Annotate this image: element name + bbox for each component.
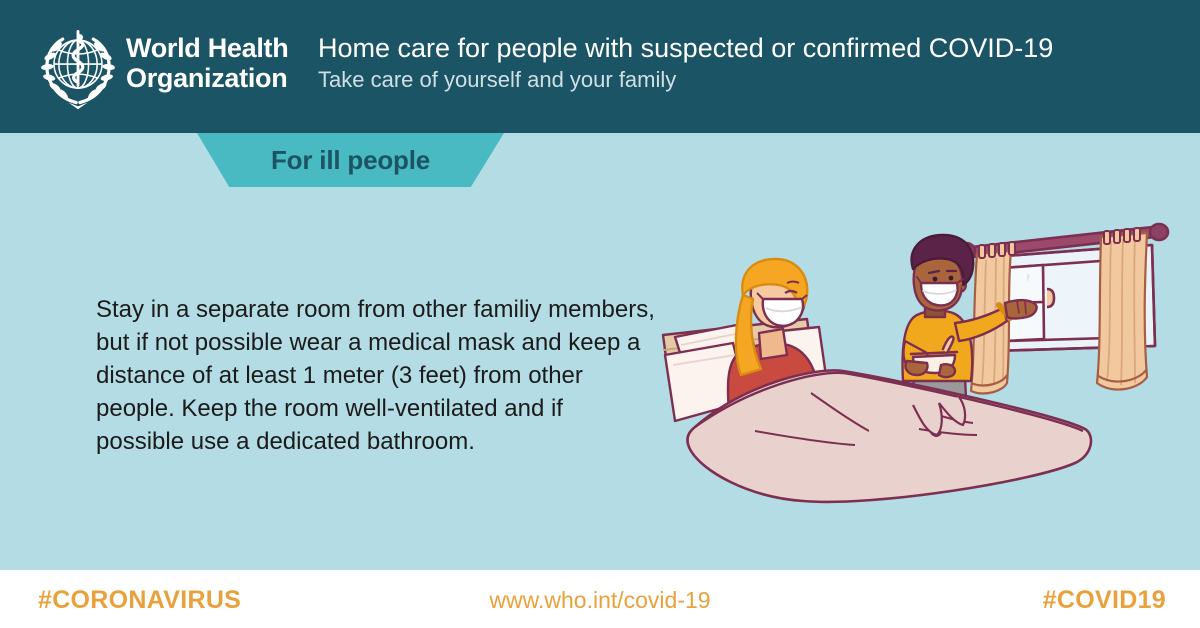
footer-hashtag-covid19[interactable]: #COVID19 bbox=[1043, 586, 1166, 615]
section-banner-label: For ill people bbox=[271, 145, 430, 176]
page-subtitle: Take care of yourself and your family bbox=[318, 65, 1158, 95]
who-emblem-icon bbox=[30, 18, 126, 114]
section-banner: For ill people bbox=[197, 133, 504, 187]
curtain-right bbox=[1097, 228, 1147, 390]
page-title: Home care for people with suspected or c… bbox=[318, 32, 1158, 65]
advice-text: Stay in a separate room from other famil… bbox=[96, 293, 656, 458]
home-care-bedroom-illustration bbox=[655, 215, 1200, 520]
organization-name-line2: Organization bbox=[126, 63, 288, 93]
footer-bar: #CORONAVIRUS www.who.int/covid-19 #COVID… bbox=[0, 570, 1200, 628]
header-title-group: Home care for people with suspected or c… bbox=[318, 32, 1158, 95]
organization-name: World Health Organization bbox=[126, 33, 288, 93]
organization-name-line1: World Health bbox=[126, 33, 288, 63]
header-bar: World Health Organization Home care for … bbox=[0, 0, 1200, 133]
who-infographic-poster: World Health Organization Home care for … bbox=[0, 0, 1200, 628]
footer-url[interactable]: www.who.int/covid-19 bbox=[0, 587, 1200, 614]
